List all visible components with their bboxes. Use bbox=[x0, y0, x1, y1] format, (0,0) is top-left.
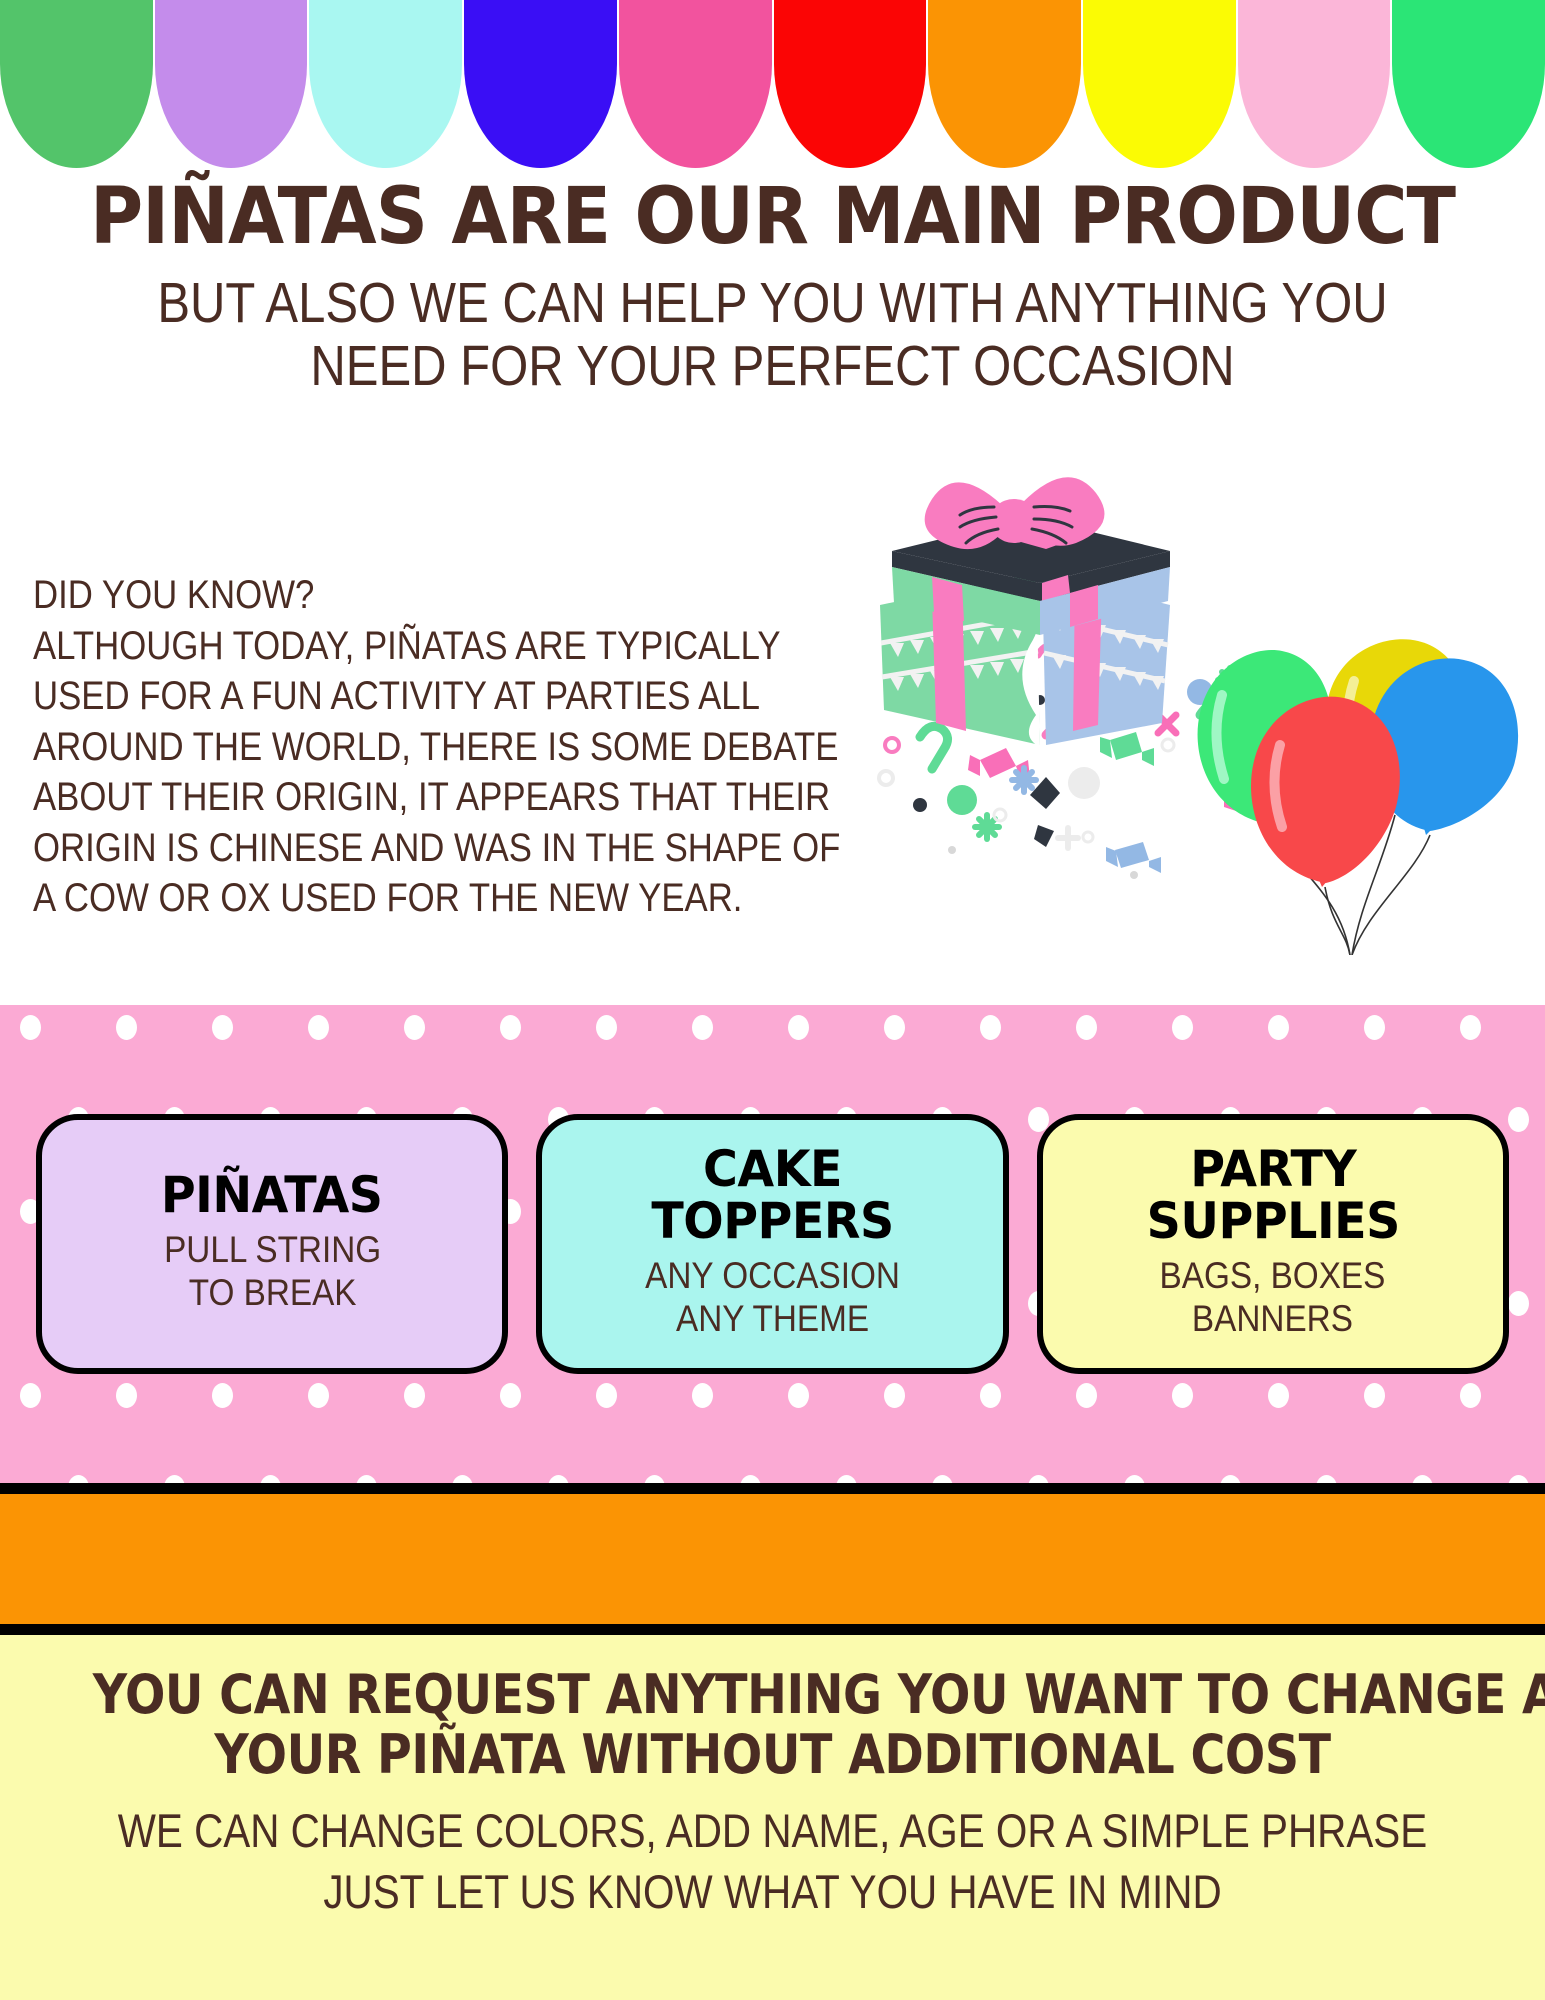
polka-dot bbox=[260, 1475, 281, 1483]
body-line-1: ALTHOUGH TODAY, PIÑATAS ARE TYPICALLY bbox=[33, 621, 649, 672]
body-line-3: AROUND THE WORLD, THERE IS SOME DEBATE bbox=[33, 722, 649, 773]
polka-dot bbox=[884, 1015, 905, 1040]
card-pinatas-title: PIÑATAS bbox=[161, 1169, 383, 1221]
card-cake-toppers-subtitle: ANY OCCASION ANY THEME bbox=[645, 1254, 900, 1340]
card-party-supplies-sub-line-1: BAGS, BOXES bbox=[1160, 1254, 1386, 1297]
scallop-7 bbox=[1083, 0, 1236, 168]
scalloped-banner bbox=[0, 0, 1545, 168]
card-pinatas[interactable]: PIÑATAS PULL STRING TO BREAK bbox=[36, 1114, 508, 1374]
polka-dot bbox=[692, 1383, 713, 1408]
card-party-supplies-title-line-1: PARTY bbox=[1190, 1140, 1356, 1198]
footer-sub-line-1: WE CAN CHANGE COLORS, ADD NAME, AGE OR A… bbox=[108, 1800, 1437, 1861]
did-you-know-paragraph: DID YOU KNOW?ALTHOUGH TODAY, PIÑATAS ARE… bbox=[33, 570, 649, 924]
polka-dot bbox=[884, 1383, 905, 1408]
polka-dot bbox=[404, 1015, 425, 1040]
polka-dot bbox=[356, 1475, 377, 1483]
card-party-supplies-subtitle: BAGS, BOXES BANNERS bbox=[1160, 1254, 1386, 1340]
orange-divider-band bbox=[0, 1483, 1545, 1635]
polka-dot bbox=[1076, 1015, 1097, 1040]
polka-dot bbox=[1124, 1475, 1145, 1483]
polka-dot bbox=[836, 1475, 857, 1483]
footer-sub-line-2: JUST LET US KNOW WHAT YOU HAVE IN MIND bbox=[108, 1861, 1437, 1922]
polka-dot bbox=[1412, 1475, 1433, 1483]
polka-dot bbox=[308, 1015, 329, 1040]
polka-dot bbox=[308, 1383, 329, 1408]
polka-dot bbox=[500, 1383, 521, 1408]
polka-dot bbox=[1268, 1015, 1289, 1040]
polka-dot bbox=[596, 1383, 617, 1408]
balloon-cluster bbox=[1198, 639, 1519, 955]
polka-dot bbox=[548, 1475, 569, 1483]
card-party-supplies-title: PARTY SUPPLIES bbox=[1146, 1143, 1399, 1247]
card-cake-toppers-title-line-1: CAKE bbox=[703, 1140, 842, 1198]
polka-dot bbox=[1268, 1383, 1289, 1408]
polka-dot bbox=[116, 1383, 137, 1408]
card-pinatas-subtitle: PULL STRING TO BREAK bbox=[164, 1228, 381, 1314]
scallop-2 bbox=[309, 0, 462, 168]
polka-dot bbox=[1028, 1475, 1049, 1483]
polka-dot bbox=[740, 1475, 761, 1483]
card-party-supplies[interactable]: PARTY SUPPLIES BAGS, BOXES BANNERS bbox=[1037, 1114, 1509, 1374]
card-pinatas-sub-line-1: PULL STRING bbox=[164, 1228, 381, 1271]
polka-dot bbox=[212, 1383, 233, 1408]
subtitle-line-1: BUT ALSO WE CAN HELP YOU WITH ANYTHING Y… bbox=[157, 271, 1387, 335]
footer-heading-line-1: YOU CAN REQUEST ANYTHING YOU WANT TO CHA… bbox=[93, 1665, 1453, 1725]
polka-dot bbox=[1460, 1383, 1481, 1408]
polka-dot bbox=[20, 1015, 41, 1040]
scallop-9 bbox=[1392, 0, 1545, 168]
scallop-3 bbox=[464, 0, 617, 168]
footer-subtext: WE CAN CHANGE COLORS, ADD NAME, AGE OR A… bbox=[108, 1800, 1437, 1922]
polka-dot bbox=[1508, 1475, 1529, 1483]
scallop-6 bbox=[928, 0, 1081, 168]
card-cake-toppers-title-line-2: TOPPERS bbox=[651, 1192, 893, 1250]
card-cake-toppers-title: CAKE TOPPERS bbox=[651, 1143, 893, 1247]
header-block: PIÑATAS ARE OUR MAIN PRODUCT BUT ALSO WE… bbox=[0, 178, 1545, 399]
polka-dot bbox=[1364, 1015, 1385, 1040]
subtitle-line-2: NEED FOR YOUR PERFECT OCCASION bbox=[108, 335, 1437, 399]
polka-dot bbox=[452, 1475, 473, 1483]
polka-dot bbox=[980, 1383, 1001, 1408]
polka-dot bbox=[68, 1475, 89, 1483]
footer-heading-line-2: YOUR PIÑATA WITHOUT ADDITIONAL COST bbox=[93, 1725, 1453, 1785]
body-line-5: ORIGIN IS CHINESE AND WAS IN THE SHAPE O… bbox=[33, 823, 649, 874]
scallop-8 bbox=[1238, 0, 1391, 168]
polka-dot bbox=[404, 1383, 425, 1408]
card-cake-toppers-sub-line-1: ANY OCCASION bbox=[645, 1254, 900, 1297]
polka-dot bbox=[932, 1475, 953, 1483]
polka-dot bbox=[1220, 1475, 1241, 1483]
polka-dot bbox=[788, 1383, 809, 1408]
card-party-supplies-sub-line-2: BANNERS bbox=[1160, 1297, 1386, 1340]
service-cards-row: PIÑATAS PULL STRING TO BREAK CAKE TOPPER… bbox=[0, 1114, 1545, 1374]
page-subtitle: BUT ALSO WE CAN HELP YOU WITH ANYTHING Y… bbox=[108, 272, 1437, 400]
polka-dot bbox=[164, 1475, 185, 1483]
scallop-5 bbox=[774, 0, 927, 168]
red-balloon bbox=[1251, 697, 1400, 887]
card-cake-toppers[interactable]: CAKE TOPPERS ANY OCCASION ANY THEME bbox=[536, 1114, 1008, 1374]
polka-dot bbox=[1172, 1015, 1193, 1040]
scallop-1 bbox=[155, 0, 308, 168]
services-section: PIÑATAS PULL STRING TO BREAK CAKE TOPPER… bbox=[0, 1005, 1545, 1483]
body-line-4: ABOUT THEIR ORIGIN, IT APPEARS THAT THEI… bbox=[33, 772, 649, 823]
polka-dot bbox=[212, 1015, 233, 1040]
footer-heading: YOU CAN REQUEST ANYTHING YOU WANT TO CHA… bbox=[93, 1665, 1453, 1786]
card-cake-toppers-sub-line-2: ANY THEME bbox=[645, 1297, 900, 1340]
body-line-6: A COW OR OX USED FOR THE NEW YEAR. bbox=[33, 873, 649, 924]
party-illustration bbox=[870, 455, 1530, 955]
polka-dot bbox=[788, 1015, 809, 1040]
polka-dot bbox=[692, 1015, 713, 1040]
footer-section: YOU CAN REQUEST ANYTHING YOU WANT TO CHA… bbox=[0, 1635, 1545, 2000]
polka-dot bbox=[1172, 1383, 1193, 1408]
polka-dot bbox=[1460, 1015, 1481, 1040]
polka-dot bbox=[644, 1475, 665, 1483]
page-title: PIÑATAS ARE OUR MAIN PRODUCT bbox=[54, 178, 1491, 258]
polka-dot bbox=[980, 1015, 1001, 1040]
poster-canvas: PIÑATAS ARE OUR MAIN PRODUCT BUT ALSO WE… bbox=[0, 0, 1545, 2000]
polka-dot bbox=[1364, 1383, 1385, 1408]
scallop-0 bbox=[0, 0, 153, 168]
illustration-svg bbox=[870, 455, 1530, 955]
gift-box-pinata bbox=[880, 477, 1170, 747]
body-line-2: USED FOR A FUN ACTIVITY AT PARTIES ALL bbox=[33, 671, 649, 722]
polka-dot bbox=[596, 1015, 617, 1040]
polka-dot bbox=[500, 1015, 521, 1040]
polka-dot bbox=[116, 1015, 137, 1040]
card-party-supplies-title-line-2: SUPPLIES bbox=[1146, 1192, 1399, 1250]
polka-dot bbox=[1316, 1475, 1337, 1483]
scallop-4 bbox=[619, 0, 772, 168]
polka-dot bbox=[1076, 1383, 1097, 1408]
polka-dot bbox=[20, 1383, 41, 1408]
card-pinatas-sub-line-2: TO BREAK bbox=[164, 1271, 381, 1314]
body-line-0: DID YOU KNOW? bbox=[33, 570, 649, 621]
